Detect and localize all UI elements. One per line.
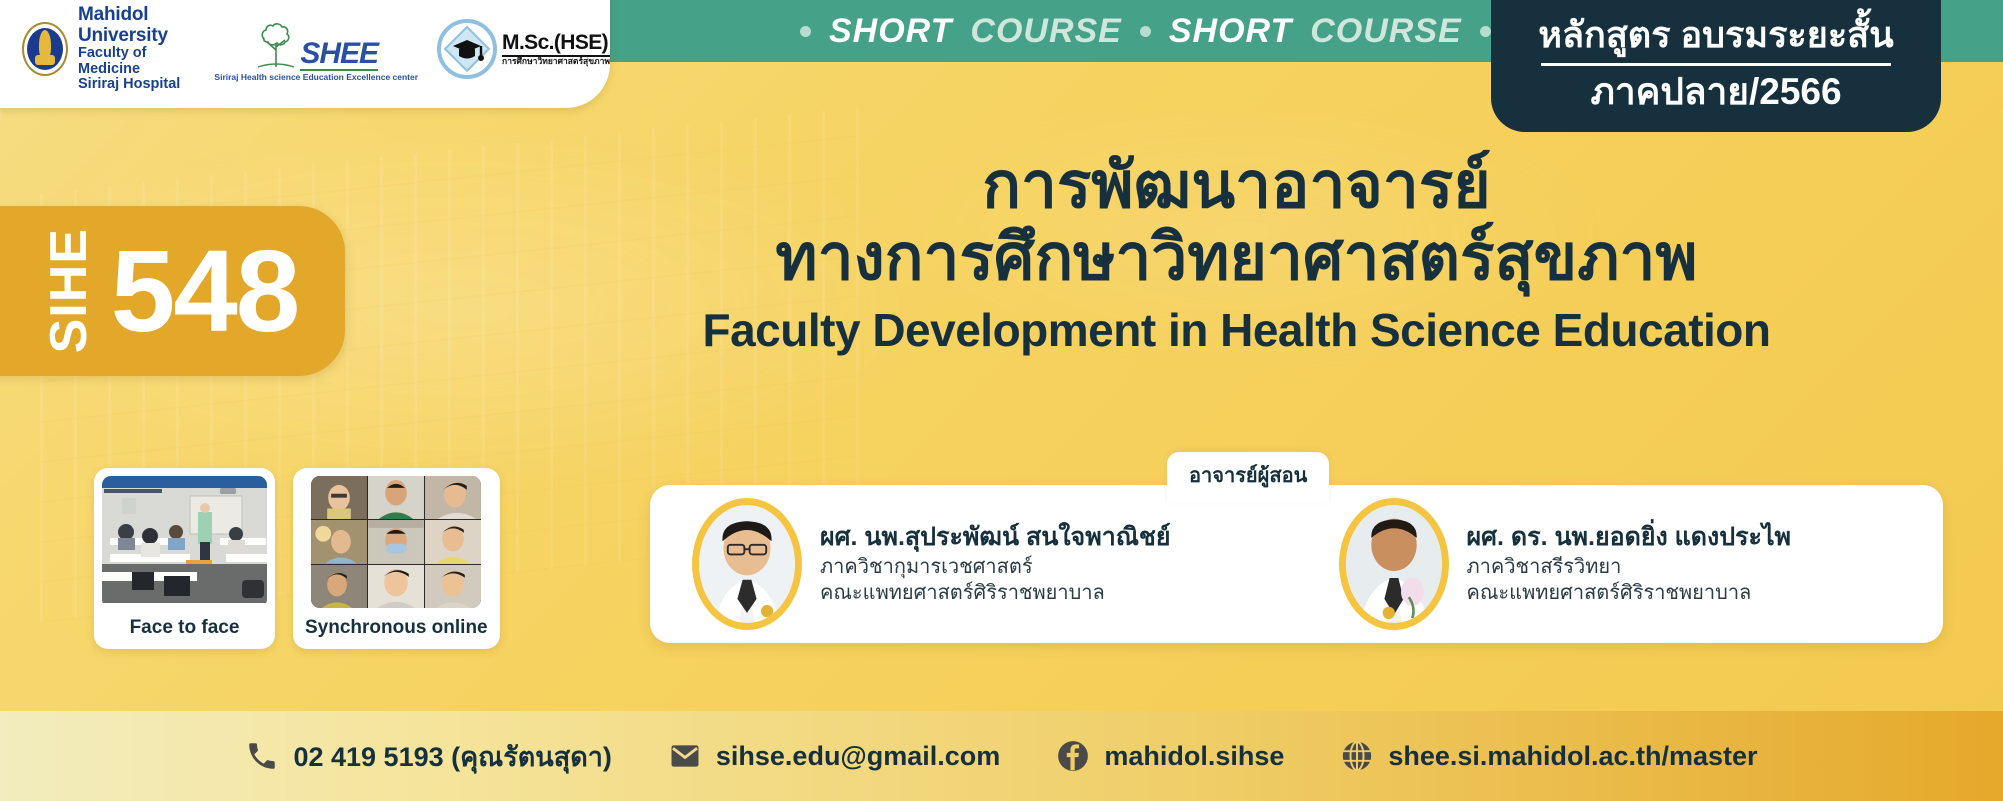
instructor-department: ภาควิชาสรีรวิทยา xyxy=(1467,554,1792,580)
msc-hse-logo: M.Sc.(HSE) การศึกษาวิทยาศาสตร์สุขภาพ xyxy=(436,18,610,80)
graduation-cap-diamond-icon xyxy=(436,18,498,80)
instructor-department: ภาควิชากุมารเวชศาสตร์ xyxy=(820,554,1171,580)
phone-icon xyxy=(245,739,279,773)
photo-caption-synchronous-online: Synchronous online xyxy=(301,608,492,643)
course-code-badge: SIHE 548 xyxy=(0,206,345,376)
globe-icon xyxy=(1340,739,1374,773)
course-title-english: Faculty Development in Health Science Ed… xyxy=(530,303,1943,357)
shee-logo: SHEE Siriraj Health science Education Ex… xyxy=(214,17,418,82)
shee-subtitle: Siriraj Health science Education Excelle… xyxy=(214,72,418,82)
delivery-mode-cards: Face to face Synchronous online xyxy=(94,468,500,649)
classroom-photo xyxy=(102,476,267,608)
marquee-word-4: COURSE xyxy=(1310,12,1461,51)
shee-wordmark: SHEE xyxy=(300,40,378,71)
mahidol-line-2: Faculty of Medicine xyxy=(78,46,196,77)
marquee-word-3: SHORT xyxy=(1169,12,1292,51)
photo-card-face-to-face: Face to face xyxy=(94,468,275,649)
contact-footer: 02 419 5193 (คุณรัตนสุดา) sihse.edu@gmai… xyxy=(0,711,2003,801)
term-badge: หลักสูตร อบรมระยะสั้น ภาคปลาย/2566 xyxy=(1491,0,1941,132)
instructors-tab-label: อาจารย์ผู้สอน xyxy=(1167,452,1329,503)
msc-subtitle: การศึกษาวิทยาศาสตร์สุขภาพ xyxy=(502,57,610,66)
marquee-dot-icon xyxy=(800,26,811,37)
course-code-prefix: SIHE xyxy=(43,228,95,353)
mahidol-line-3: Siriraj Hospital xyxy=(78,77,196,93)
contact-email[interactable]: sihse.edu@gmail.com xyxy=(668,739,1000,773)
marquee-dot-icon xyxy=(1140,26,1151,37)
instructor-avatar xyxy=(1339,498,1449,630)
logo-header-panel: Mahidol University Faculty of Medicine S… xyxy=(0,0,610,108)
facebook-icon xyxy=(1056,739,1090,773)
tree-icon xyxy=(254,17,298,71)
marquee-word-1: SHORT xyxy=(829,12,952,51)
course-title-thai-line-2: ทางการศึกษาวิทยาศาสตร์สุขภาพ xyxy=(530,222,1943,294)
course-code-number: 548 xyxy=(111,236,299,346)
video-conference-photo xyxy=(311,476,481,608)
course-title-thai-line-1: การพัฒนาอาจารย์ xyxy=(530,150,1943,222)
instructor-item: ผศ. ดร. นพ.ยอดยิ่ง แดงประไพ ภาควิชาสรีรว… xyxy=(1297,498,1944,630)
marquee-dot-icon xyxy=(1480,26,1491,37)
mahidol-seal-icon xyxy=(22,22,68,76)
term-badge-divider xyxy=(1541,63,1891,66)
instructor-name: ผศ. นพ.สุประพัฒน์ สนใจพาณิชย์ xyxy=(820,522,1171,553)
instructor-faculty: คณะแพทยศาสตร์ศิริราชพยาบาล xyxy=(1467,580,1792,606)
contact-phone-text: 02 419 5193 (คุณรัตนสุดา) xyxy=(293,735,611,778)
contact-website[interactable]: shee.si.mahidol.ac.th/master xyxy=(1340,739,1757,773)
photo-card-synchronous-online: Synchronous online xyxy=(293,468,500,649)
contact-facebook-text: mahidol.sihse xyxy=(1104,741,1284,772)
contact-phone[interactable]: 02 419 5193 (คุณรัตนสุดา) xyxy=(245,735,611,778)
term-badge-line-1: หลักสูตร อบรมระยะสั้น xyxy=(1538,15,1894,55)
photo-caption-face-to-face: Face to face xyxy=(126,608,244,643)
marquee-word-2: COURSE xyxy=(970,12,1121,51)
contact-email-text: sihse.edu@gmail.com xyxy=(716,741,1000,772)
msc-wordmark: M.Sc.(HSE) xyxy=(502,32,610,57)
contact-website-text: shee.si.mahidol.ac.th/master xyxy=(1388,741,1757,772)
instructor-avatar xyxy=(692,498,802,630)
mahidol-logo: Mahidol University Faculty of Medicine S… xyxy=(22,5,196,93)
course-title-group: การพัฒนาอาจารย์ ทางการศึกษาวิทยาศาสตร์สุ… xyxy=(530,150,1943,357)
mahidol-line-1: Mahidol University xyxy=(78,5,196,46)
term-badge-line-2: ภาคปลาย/2566 xyxy=(1590,72,1841,113)
instructor-item: ผศ. นพ.สุประพัฒน์ สนใจพาณิชย์ ภาควิชากุม… xyxy=(650,498,1297,630)
instructors-card: ผศ. นพ.สุประพัฒน์ สนใจพาณิชย์ ภาควิชากุม… xyxy=(650,485,1943,643)
instructor-faculty: คณะแพทยศาสตร์ศิริราชพยาบาล xyxy=(820,580,1171,606)
poster-root: SHORT COURSE SHORT COURSE Mahidol Univer… xyxy=(0,0,2003,801)
contact-facebook[interactable]: mahidol.sihse xyxy=(1056,739,1284,773)
instructor-name: ผศ. ดร. นพ.ยอดยิ่ง แดงประไพ xyxy=(1467,522,1792,553)
email-icon xyxy=(668,739,702,773)
